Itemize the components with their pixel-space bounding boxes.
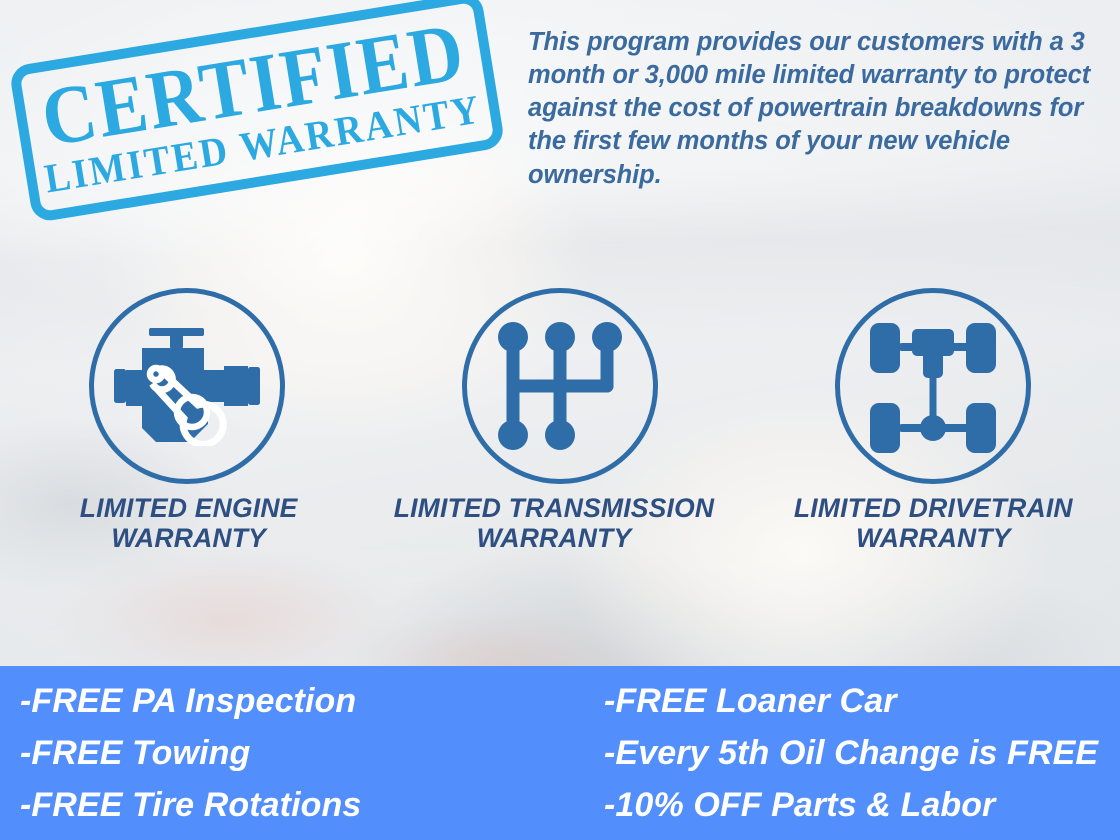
coverage-item-drivetrain: LIMITED DRIVETRAIN WARRANTY	[747, 288, 1120, 578]
coverage-item-transmission: LIMITED TRANSMISSION WARRANTY	[373, 288, 746, 578]
coverage-caption-drivetrain: LIMITED DRIVETRAIN WARRANTY	[794, 494, 1073, 554]
warranty-poster: CERTIFIED LIMITED WARRANTY This program …	[0, 0, 1120, 840]
engine-icon	[112, 326, 262, 446]
coverage-caption-engine: LIMITED ENGINE WARRANTY	[80, 494, 298, 554]
coverage-caption-transmission: LIMITED TRANSMISSION WARRANTY	[394, 494, 715, 554]
perk-item: -Every 5th Oil Change is FREE	[604, 727, 1120, 779]
drivetrain-icon	[868, 311, 998, 461]
coverage-icons-row: LIMITED ENGINE WARRANTY	[0, 288, 1120, 578]
perk-item: -FREE Loaner Car	[604, 675, 1120, 727]
coverage-item-engine: LIMITED ENGINE WARRANTY	[0, 288, 373, 578]
perk-item: -FREE PA Inspection	[20, 675, 560, 727]
perk-item: -FREE Tire Rotations	[20, 779, 560, 831]
perks-column-left: -FREE PA Inspection -FREE Towing -FREE T…	[0, 666, 560, 840]
transmission-icon-ring	[462, 288, 658, 484]
perks-column-right: -FREE Loaner Car -Every 5th Oil Change i…	[560, 666, 1120, 840]
gear-shifter-icon	[493, 319, 627, 453]
engine-icon-ring	[89, 288, 285, 484]
perk-item: -FREE Towing	[20, 727, 560, 779]
perks-bar: -FREE PA Inspection -FREE Towing -FREE T…	[0, 666, 1120, 840]
program-description-text: This program provides our customers with…	[528, 26, 1094, 192]
perk-item: -10% OFF Parts & Labor	[604, 779, 1120, 831]
drivetrain-icon-ring	[835, 288, 1031, 484]
